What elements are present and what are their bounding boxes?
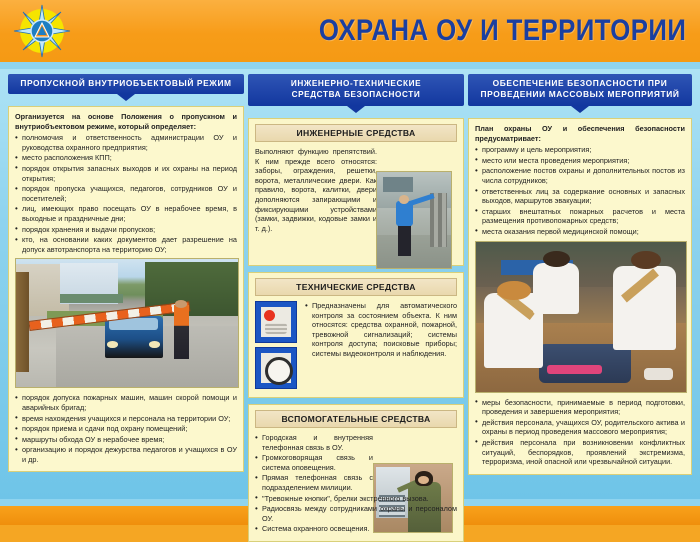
list-item: порядок пропуска учащихся, педагогов, со… (15, 184, 237, 203)
list-item: Прямая телефонная связь с подразделением… (255, 473, 457, 492)
column2-banner: ИНЖЕНЕРНО-ТЕХНИЧЕСКИЕ СРЕДСТВА БЕЗОПАСНО… (248, 74, 464, 106)
column1-bullets-top: полномочия и ответственность администрац… (15, 133, 237, 254)
column2-banner-line1: ИНЖЕНЕРНО-ТЕХНИЧЕСКИЕ (252, 78, 460, 89)
column1-card: Организуется на основе Положения о пропу… (8, 106, 244, 472)
list-item: порядок допуска пожарных машин, машин ск… (15, 393, 237, 412)
list-item: организацию и порядок дежурства педагого… (15, 445, 237, 464)
section-auxiliary-means: ВСПОМОГАТЕЛЬНЫЕ СРЕДСТВА Городская и вну… (248, 404, 464, 542)
column3-banner-line1: ОБЕСПЕЧЕНИЕ БЕЗОПАСНОСТИ ПРИ (472, 78, 688, 89)
list-item: места оказания первой медицинской помощи… (475, 227, 685, 237)
list-item: Городская и внутренняя телефонная связь … (255, 433, 457, 452)
list-item: "Тревожные кнопки", брелки экстренного в… (255, 494, 457, 504)
column3-bullets-top: программу и цель мероприятия; место или … (475, 145, 685, 236)
list-item: программу и цель мероприятия; (475, 145, 685, 155)
list-item: полномочия и ответственность администрац… (15, 133, 237, 152)
list-item: старших внештатных пожарных расчетов и м… (475, 207, 685, 226)
column1-banner: ПРОПУСКНОЙ ВНУТРИОБЪЕКТОВЫЙ РЕЖИМ (8, 74, 244, 94)
column3-intro: План охраны ОУ и обеспечения безопасност… (475, 124, 685, 143)
technical-means-icons (255, 301, 299, 393)
list-item: ответственных лиц за содержание основных… (475, 187, 685, 206)
photo-first-aid-training (475, 241, 687, 393)
smoke-detector-icon (255, 347, 297, 389)
photo-guard-at-metal-gate (376, 171, 452, 269)
list-item: Радиосвязь между сотрудниками охраны и п… (255, 504, 457, 523)
list-item: порядок приема и сдачи под охрану помеще… (15, 424, 237, 434)
list-item: Предназначены для автоматического контро… (305, 301, 457, 359)
column3-card: План охраны ОУ и обеспечения безопасност… (468, 118, 692, 475)
list-item: меры безопасности, принимаемые в период … (475, 398, 685, 417)
column-mass-events-safety: ОБЕСПЕЧЕНИЕ БЕЗОПАСНОСТИ ПРИ ПРОВЕДЕНИИ … (468, 74, 692, 475)
list-item: порядок открытия запасных выходов и их о… (15, 164, 237, 183)
technical-means-bullets: Предназначены для автоматического контро… (305, 301, 457, 360)
list-item: место или места проведения мероприятия; (475, 156, 685, 166)
list-item: действия персонала, учащихся ОУ, родител… (475, 418, 685, 437)
column2-banner-line2: СРЕДСТВА БЕЗОПАСНОСТИ (252, 89, 460, 100)
column1-bullets-bottom: порядок допуска пожарных машин, машин ск… (15, 393, 237, 464)
subheading-technical-means: ТЕХНИЧЕСКИЕ СРЕДСТВА (255, 278, 457, 296)
column3-banner-line2: ПРОВЕДЕНИИ МАССОВЫХ МЕРОПРИЯТИЙ (472, 89, 688, 100)
list-item: место расположения КПП; (15, 153, 237, 163)
column3-bullets-bottom: меры безопасности, принимаемые в период … (475, 398, 685, 467)
column-engineering-technical: ИНЖЕНЕРНО-ТЕХНИЧЕСКИЕ СРЕДСТВА БЕЗОПАСНО… (248, 74, 464, 542)
photo-checkpoint-barrier-car (15, 258, 239, 388)
list-item: маршруты обхода ОУ в нерабочее время; (15, 435, 237, 445)
header-rule (0, 62, 700, 69)
list-item: расположение постов охраны и дополнитель… (475, 166, 685, 185)
list-item: Громкоговорящая связь и система оповещен… (255, 453, 457, 472)
column3-banner: ОБЕСПЕЧЕНИЕ БЕЗОПАСНОСТИ ПРИ ПРОВЕДЕНИИ … (468, 74, 692, 106)
poster-root: ОХРАНА ОУ И ТЕРРИТОРИИ ПРОПУСКНОЙ ВНУТРИ… (0, 0, 700, 525)
list-item: лиц, имеющих право посещать ОУ в нерабоч… (15, 204, 237, 223)
column1-intro: Организуется на основе Положения о пропу… (15, 112, 237, 131)
list-item: время нахождения учащихся и персонала на… (15, 414, 237, 424)
list-item: Система охранного освещения. (255, 524, 457, 534)
list-item: кто, на основании каких документов дает … (15, 235, 237, 254)
emercom-star-emblem (12, 4, 72, 58)
section-technical-means: ТЕХНИЧЕСКИЕ СРЕДСТВА Предназначены для а… (248, 272, 464, 398)
subheading-engineering-means: ИНЖЕНЕРНЫЕ СРЕДСТВА (255, 124, 457, 142)
page-title: ОХРАНА ОУ И ТЕРРИТОРИИ (318, 8, 686, 54)
poster-header: ОХРАНА ОУ И ТЕРРИТОРИИ (0, 0, 700, 62)
column-access-control: ПРОПУСКНОЙ ВНУТРИОБЪЕКТОВЫЙ РЕЖИМ Органи… (8, 74, 244, 472)
alarm-siren-icon (255, 301, 297, 343)
section-engineering-means: ИНЖЕНЕРНЫЕ СРЕДСТВА Выполняют функцию пр… (248, 118, 464, 266)
list-item: порядок хранения и выдачи пропусков; (15, 225, 237, 235)
auxiliary-means-bullets: Городская и внутренняя телефонная связь … (255, 433, 457, 534)
list-item: действия персонала при возникновении кон… (475, 438, 685, 467)
subheading-auxiliary-means: ВСПОМОГАТЕЛЬНЫЕ СРЕДСТВА (255, 410, 457, 428)
